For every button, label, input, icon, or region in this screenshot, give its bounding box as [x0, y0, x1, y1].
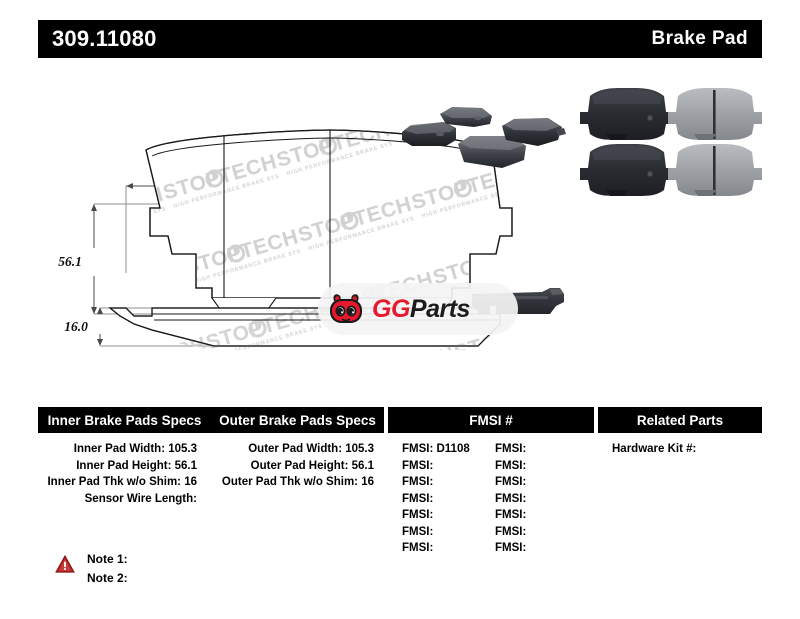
spec-outer-pad-thickness: Outer Pad Thk w/o Shim: 16 [215, 474, 388, 491]
photo-pad-2 [440, 107, 492, 127]
specs-table-header-row: Inner Brake Pads Specs Outer Brake Pads … [38, 407, 762, 433]
photo-pad-friction-top [668, 88, 762, 140]
fmsi-row: FMSI: [495, 540, 598, 557]
ggparts-wordmark-gg: GG [372, 295, 410, 323]
spec-outer-pad-width: Outer Pad Width: 105.3 [215, 441, 388, 458]
photo-pad-back-top [580, 88, 674, 140]
fmsi-subcolumn-1: FMSI: D1108 FMSI: FMSI: FMSI: FMSI: FMSI… [392, 441, 495, 557]
column-inner-specs: Inner Pad Width: 105.3 Inner Pad Height:… [38, 441, 211, 557]
product-photo-flat-pads [572, 82, 768, 208]
column-fmsi: FMSI: D1108 FMSI: FMSI: FMSI: FMSI: FMSI… [392, 441, 598, 557]
photo-pad-back-bottom [580, 144, 674, 196]
column-outer-specs: Outer Pad Width: 105.3 Outer Pad Height:… [215, 441, 388, 557]
part-number: 309.11080 [52, 26, 157, 52]
note-1: Note 1: [87, 550, 128, 569]
spec-hardware-kit: Hardware Kit #: [602, 441, 762, 458]
part-type-label: Brake Pad [651, 28, 748, 50]
note-lines: Note 1: Note 2: [87, 550, 128, 588]
photo-pad-friction-bottom [668, 144, 762, 196]
fmsi-row: FMSI: [495, 458, 598, 475]
header-cell-inner-outer: Inner Brake Pads Specs Outer Brake Pads … [38, 407, 384, 433]
fmsi-row: FMSI: [495, 491, 598, 508]
fmsi-row: FMSI: [495, 474, 598, 491]
spec-sensor-wire-length: Sensor Wire Length: [38, 491, 211, 508]
header-cell-inner-specs: Inner Brake Pads Specs [38, 413, 211, 428]
ggparts-wordmark-parts: Parts [410, 295, 470, 323]
note-2: Note 2: [87, 569, 128, 588]
ggparts-wordmark: GGParts [372, 295, 470, 324]
header-cell-outer-specs: Outer Brake Pads Specs [211, 413, 384, 428]
fmsi-row: FMSI: [392, 507, 495, 524]
photo-pad-1 [402, 122, 456, 146]
fmsi-row: FMSI: [495, 441, 598, 458]
column-related-parts: Hardware Kit #: [602, 441, 762, 557]
fmsi-row: FMSI: [495, 507, 598, 524]
fmsi-row: FMSI: [392, 491, 495, 508]
fmsi-row: FMSI: [392, 540, 495, 557]
fmsi-row: FMSI: [392, 458, 495, 475]
fmsi-row: FMSI: [392, 474, 495, 491]
spec-inner-pad-thickness: Inner Pad Thk w/o Shim: 16 [38, 474, 211, 491]
fmsi-subcolumn-2: FMSI: FMSI: FMSI: FMSI: FMSI: FMSI: FMSI… [495, 441, 598, 557]
header-bar: 309.11080 Brake Pad [38, 20, 762, 58]
fmsi-row: FMSI: [495, 524, 598, 541]
specs-table-body: Inner Pad Width: 105.3 Inner Pad Height:… [38, 433, 762, 557]
spec-inner-pad-width: Inner Pad Width: 105.3 [38, 441, 211, 458]
dimension-thickness-label: 16.0 [64, 319, 88, 334]
header-cell-related-parts: Related Parts [598, 407, 762, 433]
spec-sheet-page: 309.11080 Brake Pad STOP TECH HIGH PERFO… [0, 0, 800, 619]
ggparts-watermark: GGParts [318, 283, 518, 335]
spec-inner-pad-height: Inner Pad Height: 56.1 [38, 458, 211, 475]
specs-table: Inner Brake Pads Specs Outer Brake Pads … [38, 407, 762, 557]
notes-section: Note 1: Note 2: [55, 550, 128, 588]
dimension-height-label: 56.1 [58, 254, 82, 269]
header-cell-fmsi: FMSI # [388, 407, 594, 433]
spec-outer-pad-height: Outer Pad Height: 56.1 [215, 458, 388, 475]
warning-triangle-icon [55, 554, 75, 574]
ggparts-mascot-icon [327, 292, 365, 326]
fmsi-row: FMSI: D1108 [392, 441, 495, 458]
fmsi-row: FMSI: [392, 524, 495, 541]
product-photo-angled-pads [398, 86, 574, 182]
